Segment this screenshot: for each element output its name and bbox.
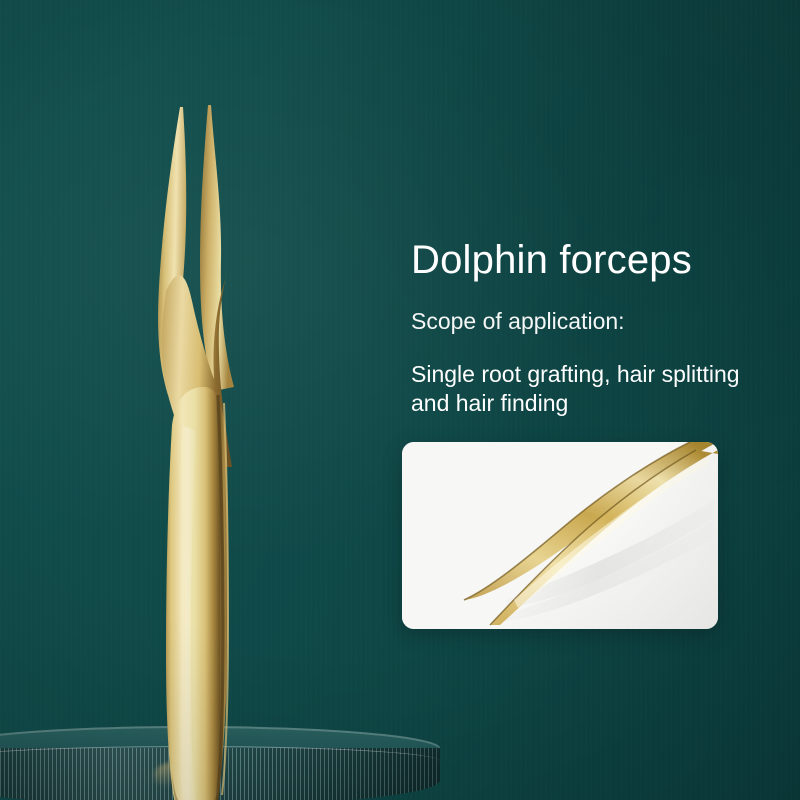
copy-block: Dolphin forceps Scope of application: Si…	[411, 238, 781, 418]
product-scene: Dolphin forceps Scope of application: Si…	[0, 0, 800, 800]
tweezer-illustration	[120, 95, 300, 765]
scope-description-line-2: and hair finding	[411, 389, 771, 418]
scope-label: Scope of application:	[411, 308, 781, 336]
scope-description: Single root grafting, hair splitting and…	[411, 360, 771, 419]
product-image-tweezer	[120, 95, 300, 765]
tip-closeup-illustration	[402, 442, 718, 629]
page-title: Dolphin forceps	[411, 238, 781, 282]
scope-description-line-1: Single root grafting, hair splitting	[411, 360, 771, 389]
tip-closeup-card	[402, 442, 718, 629]
